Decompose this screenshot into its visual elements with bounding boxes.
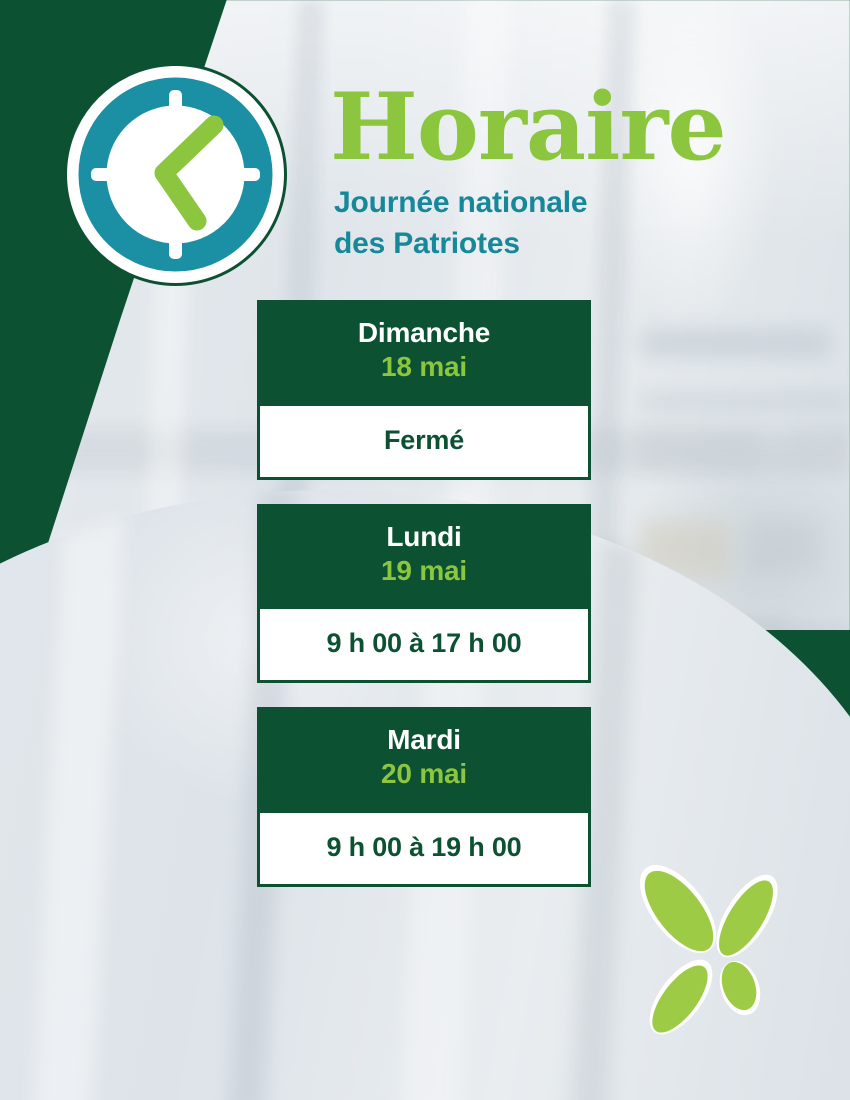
schedule-card-day: Mardi bbox=[263, 724, 585, 756]
schedule-card-body: 9 h 00 à 17 h 00 bbox=[257, 609, 591, 683]
clock-icon bbox=[63, 62, 288, 287]
schedule-card-header: Mardi 20 mai bbox=[257, 707, 591, 813]
page-subtitle: Journée nationale des Patriotes bbox=[334, 183, 750, 264]
schedule-card-list: Dimanche 18 mai Fermé Lundi 19 mai 9 h 0… bbox=[257, 300, 591, 911]
schedule-card-day: Lundi bbox=[263, 521, 585, 553]
subtitle-line-2: des Patriotes bbox=[334, 224, 750, 265]
schedule-card-day: Dimanche bbox=[263, 317, 585, 349]
schedule-card-hours: Fermé bbox=[266, 425, 582, 456]
butterfly-logo-icon bbox=[612, 852, 812, 1052]
schedule-card: Dimanche 18 mai Fermé bbox=[257, 300, 591, 480]
schedule-card-header: Lundi 19 mai bbox=[257, 504, 591, 610]
schedule-card-date: 20 mai bbox=[263, 756, 585, 792]
schedule-card-date: 19 mai bbox=[263, 553, 585, 589]
page-title: Horaire bbox=[330, 82, 750, 171]
schedule-card-hours: 9 h 00 à 17 h 00 bbox=[266, 628, 582, 659]
schedule-card-header: Dimanche 18 mai bbox=[257, 300, 591, 406]
schedule-poster: Horaire Journée nationale des Patriotes … bbox=[0, 0, 850, 1100]
poster-heading: Horaire Journée nationale des Patriotes bbox=[330, 82, 750, 264]
schedule-card-date: 18 mai bbox=[263, 349, 585, 385]
subtitle-line-1: Journée nationale bbox=[334, 183, 750, 224]
schedule-card-body: Fermé bbox=[257, 406, 591, 480]
schedule-card-body: 9 h 00 à 19 h 00 bbox=[257, 813, 591, 887]
schedule-card: Lundi 19 mai 9 h 00 à 17 h 00 bbox=[257, 504, 591, 684]
schedule-card-hours: 9 h 00 à 19 h 00 bbox=[266, 832, 582, 863]
schedule-card: Mardi 20 mai 9 h 00 à 19 h 00 bbox=[257, 707, 591, 887]
